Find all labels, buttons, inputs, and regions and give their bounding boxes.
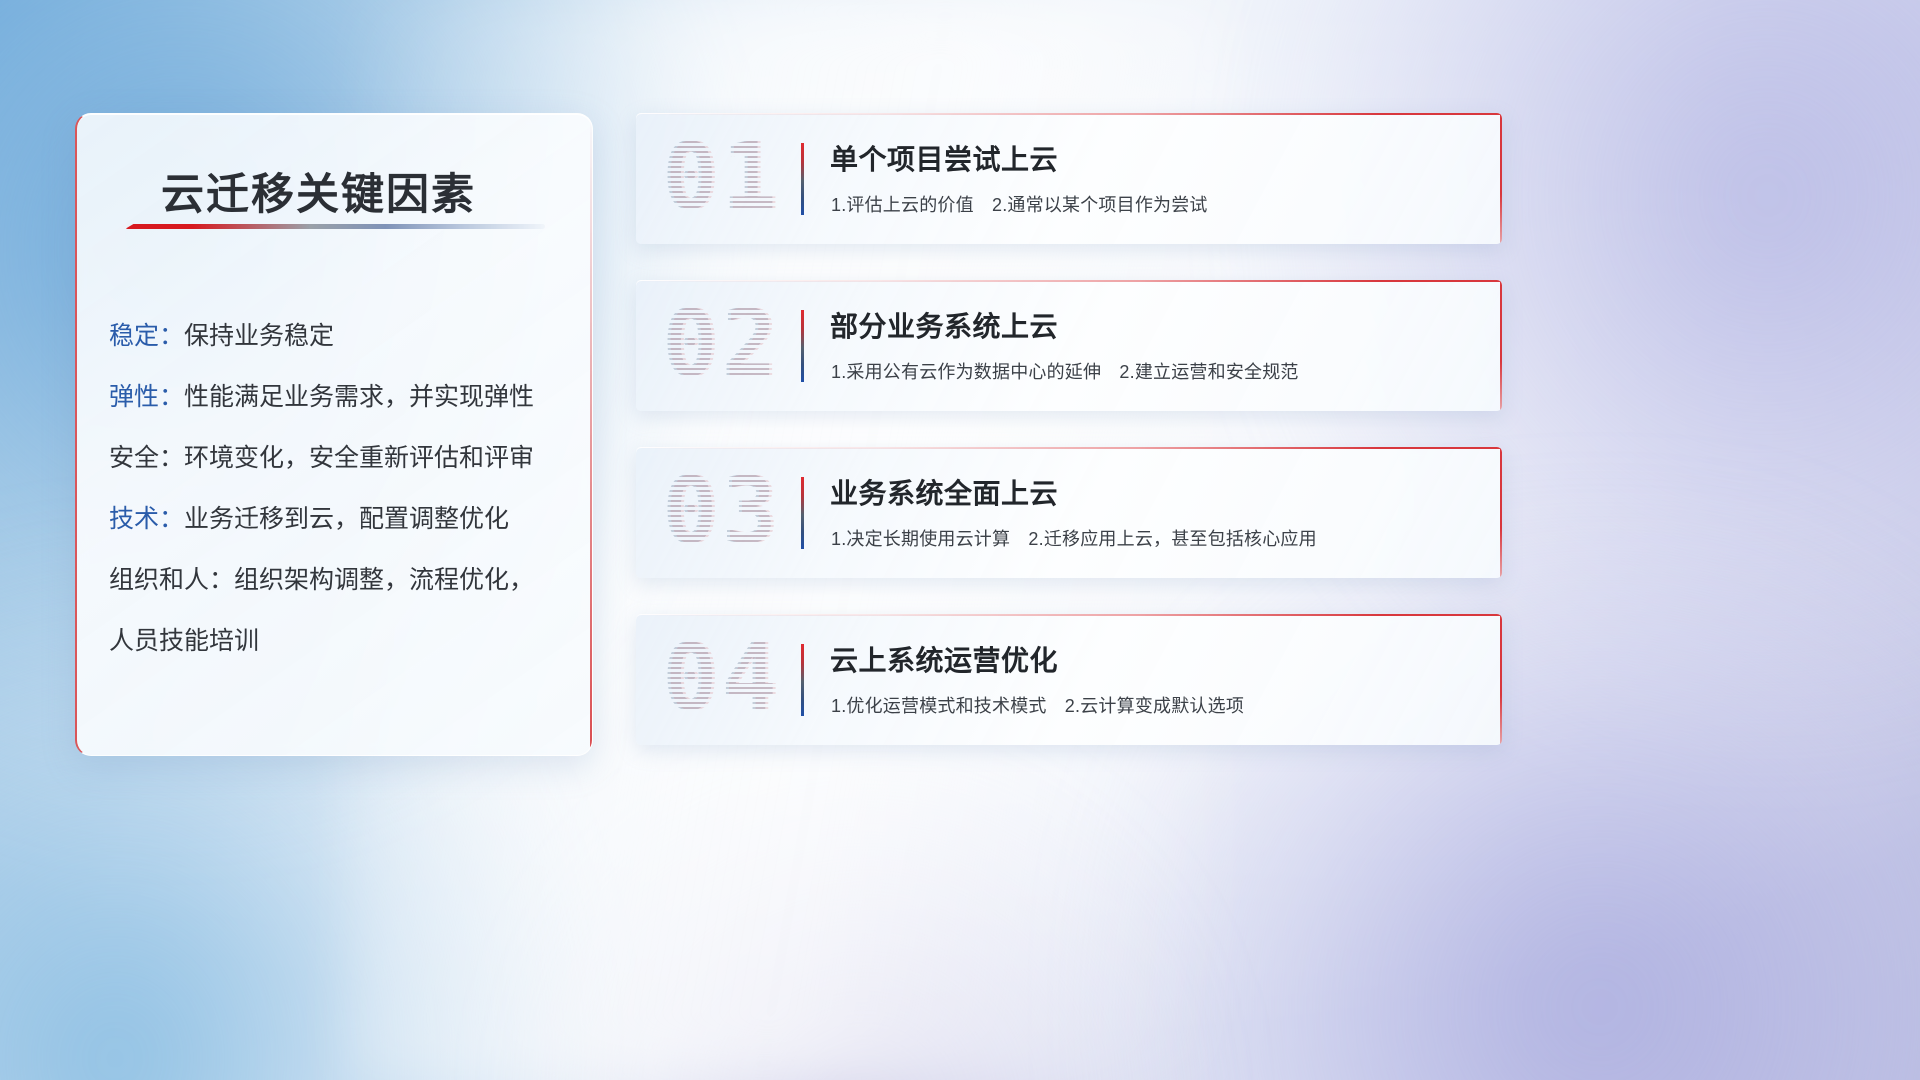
step-card[interactable]: 0101单个项目尝试上云1.评估上云的价值 2.通常以某个项目作为尝试 (636, 113, 1502, 244)
key-factors-panel: 云迁移关键因素 稳定：保持业务稳定弹性：性能满足业务需求，并实现弹性安全：环境变… (75, 113, 593, 756)
step-number-watermark: 0303 (662, 447, 781, 576)
slide-stage: 云迁移关键因素 稳定：保持业务稳定弹性：性能满足业务需求，并实现弹性安全：环境变… (0, 0, 1920, 1080)
step-number-watermark: 0202 (662, 280, 781, 409)
step-description: 1.优化运营模式和技术模式 2.云计算变成默认选项 (831, 692, 1244, 718)
step-card[interactable]: 0303业务系统全面上云1.决定长期使用云计算 2.迁移应用上云，甚至包括核心应… (636, 447, 1502, 578)
factor-row: 技术：业务迁移到云，配置调整优化 (109, 489, 574, 550)
step-divider-bar (801, 310, 804, 382)
step-divider-bar (801, 143, 804, 215)
step-number-offset-shadow: 03 (665, 447, 784, 576)
step-divider-bar (801, 477, 804, 549)
step-title: 部分业务系统上云 (830, 305, 1058, 345)
factor-value: 组织架构调整，流程优化， (234, 566, 534, 594)
factor-label: 安全： (109, 444, 184, 472)
factor-label: 技术： (109, 505, 184, 533)
factor-row: 人员技能培训 (109, 611, 574, 672)
step-divider-bar (801, 644, 804, 716)
factor-label: 弹性： (109, 383, 184, 411)
factor-value: 业务迁移到云，配置调整优化 (184, 505, 509, 533)
factor-value: 环境变化，安全重新评估和评审 (184, 444, 534, 472)
step-title: 业务系统全面上云 (830, 472, 1058, 512)
title-underline-rule (125, 224, 545, 229)
step-number-offset-shadow: 01 (665, 113, 784, 242)
step-number-watermark: 0101 (662, 113, 781, 242)
factor-row: 弹性：性能满足业务需求，并实现弹性 (109, 367, 574, 428)
factor-value: 性能满足业务需求，并实现弹性 (184, 383, 534, 411)
factor-label: 稳定： (109, 322, 184, 350)
step-card[interactable]: 0404云上系统运营优化1.优化运营模式和技术模式 2.云计算变成默认选项 (636, 614, 1502, 745)
factor-row: 安全：环境变化，安全重新评估和评审 (109, 428, 574, 489)
step-title: 单个项目尝试上云 (830, 138, 1058, 178)
step-title: 云上系统运营优化 (830, 639, 1058, 679)
page-title: 云迁移关键因素 (161, 160, 476, 222)
step-number-offset-shadow: 02 (665, 280, 784, 409)
step-number-watermark: 0404 (662, 614, 781, 743)
step-number-offset-shadow: 04 (665, 614, 784, 743)
factor-row: 组织和人：组织架构调整，流程优化， (109, 550, 574, 611)
step-description: 1.评估上云的价值 2.通常以某个项目作为尝试 (831, 191, 1208, 217)
factor-value: 保持业务稳定 (184, 322, 334, 350)
factor-label: 组织和人： (109, 566, 234, 594)
step-description: 1.采用公有云作为数据中心的延伸 2.建立运营和安全规范 (831, 358, 1299, 384)
factor-row: 稳定：保持业务稳定 (109, 306, 574, 367)
step-card[interactable]: 0202部分业务系统上云1.采用公有云作为数据中心的延伸 2.建立运营和安全规范 (636, 280, 1502, 411)
factor-list: 稳定：保持业务稳定弹性：性能满足业务需求，并实现弹性安全：环境变化，安全重新评估… (109, 306, 574, 672)
factor-value: 人员技能培训 (109, 627, 259, 655)
step-description: 1.决定长期使用云计算 2.迁移应用上云，甚至包括核心应用 (831, 525, 1317, 551)
migration-steps-list: 0101单个项目尝试上云1.评估上云的价值 2.通常以某个项目作为尝试0202部… (636, 113, 1502, 781)
